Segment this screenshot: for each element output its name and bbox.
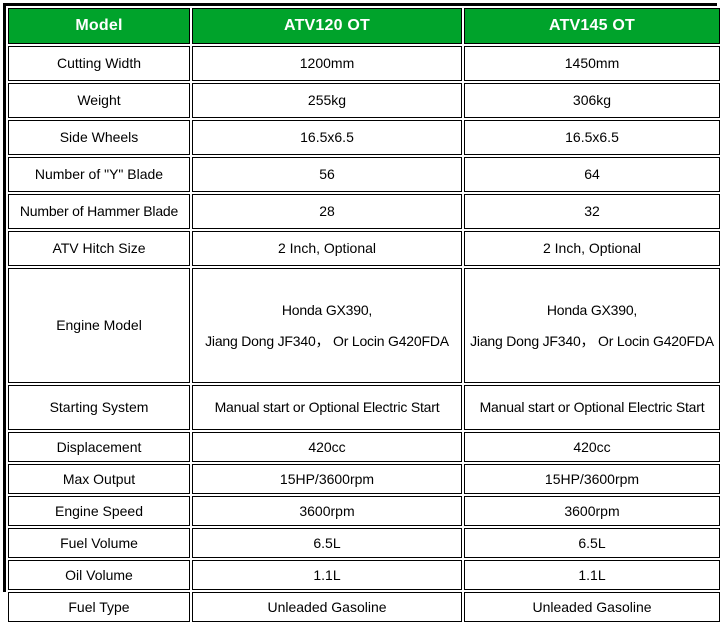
row-label-atv-hitch-size: ATV Hitch Size <box>8 231 190 266</box>
table-row: Engine Speed 3600rpm 3600rpm <box>8 496 720 526</box>
cell-number-of-y-blade-atv120: 56 <box>192 157 462 192</box>
cell-engine-speed-atv145: 3600rpm <box>464 496 720 526</box>
cell-cutting-width-atv145: 1450mm <box>464 46 720 81</box>
row-label-engine-speed: Engine Speed <box>8 496 190 526</box>
cell-oil-volume-atv120: 1.1L <box>192 560 462 590</box>
engine-model-atv120-line-1: Honda GX390, <box>194 301 460 320</box>
cell-atv-hitch-size-atv120: 2 Inch, Optional <box>192 231 462 266</box>
row-label-max-output: Max Output <box>8 464 190 494</box>
cell-side-wheels-atv120: 16.5x6.5 <box>192 120 462 155</box>
cell-number-of-y-blade-atv145: 64 <box>464 157 720 192</box>
cell-side-wheels-atv145: 16.5x6.5 <box>464 120 720 155</box>
row-label-starting-system: Starting System <box>8 385 190 430</box>
cell-engine-model-atv120: Honda GX390, Jiang Dong JF340， Or Locin … <box>192 268 462 383</box>
cell-engine-model-atv145: Honda GX390, Jiang Dong JF340， Or Locin … <box>464 268 720 383</box>
cell-fuel-type-atv145: Unleaded Gasoline <box>464 592 720 622</box>
cell-weight-atv120: 255kg <box>192 83 462 118</box>
cell-number-of-hammer-blade-atv120: 28 <box>192 194 462 229</box>
cell-cutting-width-atv120: 1200mm <box>192 46 462 81</box>
cell-fuel-type-atv120: Unleaded Gasoline <box>192 592 462 622</box>
cell-fuel-volume-atv120: 6.5L <box>192 528 462 558</box>
cell-displacement-atv145: 420cc <box>464 432 720 462</box>
specification-table-container: Model ATV120 OT ATV145 OT Cutting Width … <box>3 3 717 592</box>
table-row: Fuel Volume 6.5L 6.5L <box>8 528 720 558</box>
cell-starting-system-atv145: Manual start or Optional Electric Start <box>464 385 720 430</box>
row-label-fuel-type: Fuel Type <box>8 592 190 622</box>
column-header-model: Model <box>8 8 190 44</box>
table-header: Model ATV120 OT ATV145 OT <box>8 8 720 44</box>
engine-model-atv145-line-1: Honda GX390, <box>466 301 718 320</box>
cell-number-of-hammer-blade-atv145: 32 <box>464 194 720 229</box>
cell-fuel-volume-atv145: 6.5L <box>464 528 720 558</box>
row-label-fuel-volume: Fuel Volume <box>8 528 190 558</box>
specification-table: Model ATV120 OT ATV145 OT Cutting Width … <box>6 6 722 624</box>
table-row: Weight 255kg 306kg <box>8 83 720 118</box>
table-header-row: Model ATV120 OT ATV145 OT <box>8 8 720 44</box>
row-label-oil-volume: Oil Volume <box>8 560 190 590</box>
row-label-weight: Weight <box>8 83 190 118</box>
row-label-cutting-width: Cutting Width <box>8 46 190 81</box>
table-row: Displacement 420cc 420cc <box>8 432 720 462</box>
cell-engine-speed-atv120: 3600rpm <box>192 496 462 526</box>
row-label-number-of-y-blade: Number of "Y" Blade <box>8 157 190 192</box>
table-row: Max Output 15HP/3600rpm 15HP/3600rpm <box>8 464 720 494</box>
table-row: Number of "Y" Blade 56 64 <box>8 157 720 192</box>
table-row: Starting System Manual start or Optional… <box>8 385 720 430</box>
row-label-displacement: Displacement <box>8 432 190 462</box>
table-row: Fuel Type Unleaded Gasoline Unleaded Gas… <box>8 592 720 622</box>
cell-starting-system-atv120: Manual start or Optional Electric Start <box>192 385 462 430</box>
table-row: Engine Model Honda GX390, Jiang Dong JF3… <box>8 268 720 383</box>
table-row: Cutting Width 1200mm 1450mm <box>8 46 720 81</box>
table-row: Number of Hammer Blade 28 32 <box>8 194 720 229</box>
row-label-side-wheels: Side Wheels <box>8 120 190 155</box>
column-header-atv120-ot: ATV120 OT <box>192 8 462 44</box>
table-row: Oil Volume 1.1L 1.1L <box>8 560 720 590</box>
column-header-atv145-ot: ATV145 OT <box>464 8 720 44</box>
cell-atv-hitch-size-atv145: 2 Inch, Optional <box>464 231 720 266</box>
row-label-engine-model: Engine Model <box>8 268 190 383</box>
engine-model-atv120-line-2: Jiang Dong JF340， Or Locin G420FDA <box>194 332 460 351</box>
cell-displacement-atv120: 420cc <box>192 432 462 462</box>
engine-model-atv145-line-2: Jiang Dong JF340， Or Locin G420FDA <box>466 332 718 351</box>
cell-weight-atv145: 306kg <box>464 83 720 118</box>
table-body: Cutting Width 1200mm 1450mm Weight 255kg… <box>8 46 720 622</box>
cell-max-output-atv120: 15HP/3600rpm <box>192 464 462 494</box>
table-row: Side Wheels 16.5x6.5 16.5x6.5 <box>8 120 720 155</box>
table-row: ATV Hitch Size 2 Inch, Optional 2 Inch, … <box>8 231 720 266</box>
row-label-number-of-hammer-blade: Number of Hammer Blade <box>8 194 190 229</box>
cell-max-output-atv145: 15HP/3600rpm <box>464 464 720 494</box>
cell-oil-volume-atv145: 1.1L <box>464 560 720 590</box>
